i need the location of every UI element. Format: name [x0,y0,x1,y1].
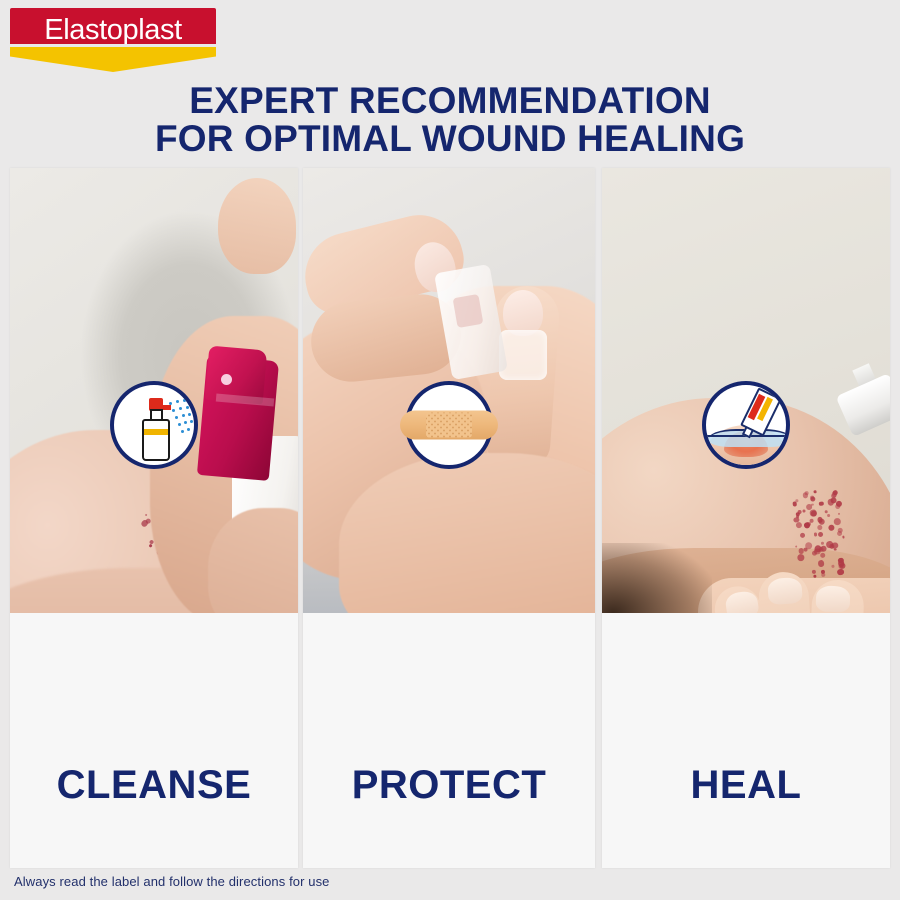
step-label-heal: HEAL [602,763,890,808]
photo-shadow [602,543,712,613]
nozzle-button [221,374,232,385]
plaster-pad [453,294,484,328]
fingernail [816,585,851,612]
fingernail [767,577,803,605]
icon-circle [110,381,198,469]
caption-area-cleanse [10,613,298,868]
infographic-root: Elastoplast EXPERT RECOMMENDATION FOR OP… [0,0,900,900]
page-title: EXPERT RECOMMENDATION FOR OPTIMAL WOUND … [0,82,900,158]
step-label-protect: PROTECT [303,763,595,808]
graze-wound [790,488,851,581]
step-card-heal[interactable]: HEAL [602,168,890,868]
applied-plaster [499,330,547,380]
logo-yellow-swoosh [10,47,216,72]
elastoplast-logo: Elastoplast [10,8,216,74]
step-card-protect[interactable]: PROTECT [303,168,595,868]
spray-bottle-icon [110,381,198,469]
ointment-tube-icon [702,381,790,469]
caption-area-protect [303,613,595,868]
bottle-label-band [144,429,168,435]
adhesive-bandage-icon [405,381,493,469]
bottle-spout [163,405,171,410]
logo-wordmark: Elastoplast [44,16,181,45]
caption-area-heal [602,613,890,868]
icon-circle [702,381,790,469]
headline-line-2: FOR OPTIMAL WOUND HEALING [0,120,900,158]
step-label-cleanse: CLEANSE [10,763,298,808]
bottle-body [142,419,170,461]
disclaimer-text: Always read the label and follow the dir… [14,874,330,889]
headline-line-1: EXPERT RECOMMENDATION [189,80,711,121]
thumb [218,178,296,274]
step-card-cleanse[interactable]: CLEANSE [10,168,298,868]
bandage-pad [426,413,472,438]
